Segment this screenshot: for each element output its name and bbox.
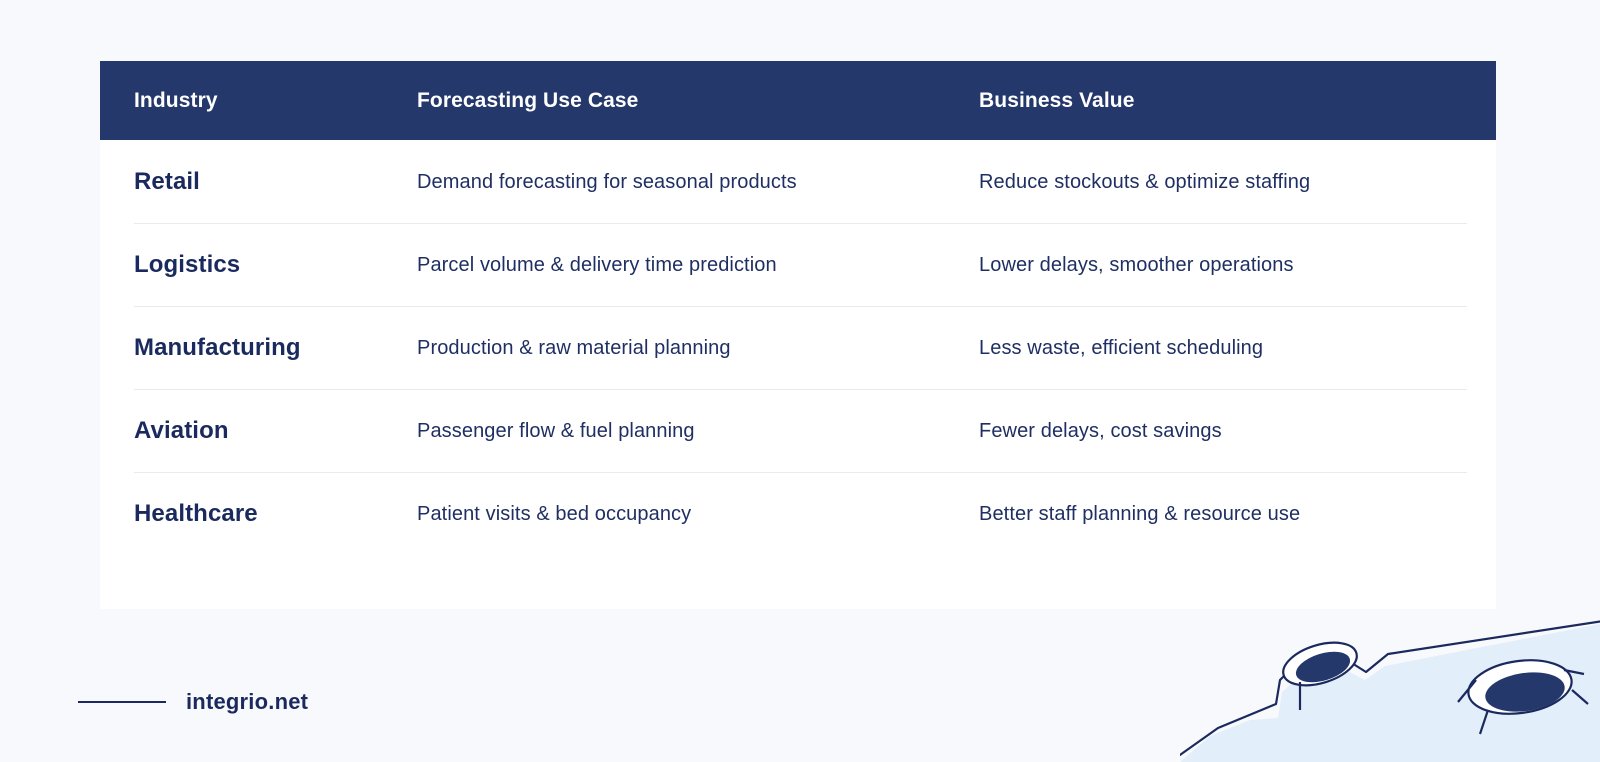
- decor-dish-leg-4: [1480, 710, 1488, 734]
- cell-industry: Healthcare: [100, 502, 417, 526]
- decor-dish-center-right: [1483, 668, 1568, 717]
- cell-industry: Aviation: [100, 419, 417, 443]
- decor-fill-shape: [1180, 624, 1600, 762]
- cell-industry: Logistics: [100, 253, 417, 277]
- cell-use-case: Parcel volume & delivery time prediction: [417, 253, 979, 277]
- cell-use-case: Demand forecasting for seasonal products: [417, 170, 979, 194]
- table-row: Logistics Parcel volume & delivery time …: [100, 223, 1496, 306]
- cell-business-value: Less waste, efficient scheduling: [979, 336, 1496, 360]
- cell-use-case: Production & raw material planning: [417, 336, 979, 360]
- table-header-row: Industry Forecasting Use Case Business V…: [100, 61, 1496, 140]
- decor-dish-ring-right: [1465, 654, 1575, 720]
- table-body: Retail Demand forecasting for seasonal p…: [100, 140, 1496, 609]
- column-header-industry: Industry: [100, 90, 417, 111]
- cell-use-case: Patient visits & bed occupancy: [417, 502, 979, 526]
- cell-use-case: Passenger flow & fuel planning: [417, 419, 979, 443]
- slide-canvas: Industry Forecasting Use Case Business V…: [0, 0, 1600, 762]
- decor-dish-leg-2: [1564, 670, 1584, 674]
- cell-industry: Retail: [100, 170, 417, 194]
- decor-ridge-line: [1180, 620, 1600, 762]
- industry-use-case-table: Industry Forecasting Use Case Business V…: [100, 61, 1496, 609]
- cell-industry: Manufacturing: [100, 336, 417, 360]
- decorative-illustration: [1180, 582, 1600, 762]
- cell-business-value: Fewer delays, cost savings: [979, 419, 1496, 443]
- brand-name-label: integrio.net: [186, 691, 308, 713]
- column-header-business-value: Business Value: [979, 90, 1496, 111]
- table-row: Manufacturing Production & raw material …: [100, 306, 1496, 389]
- decor-dish-leg-1: [1458, 680, 1476, 702]
- decor-dish-ring-left: [1278, 635, 1362, 694]
- brand-footer: integrio.net: [78, 691, 308, 713]
- table-row: Aviation Passenger flow & fuel planning …: [100, 389, 1496, 472]
- cell-business-value: Reduce stockouts & optimize staffing: [979, 170, 1496, 194]
- cell-business-value: Better staff planning & resource use: [979, 502, 1496, 526]
- decor-dish-center-left: [1292, 646, 1353, 688]
- table-row: Retail Demand forecasting for seasonal p…: [100, 140, 1496, 223]
- decor-dish-leg-3: [1572, 690, 1588, 704]
- brand-rule-line: [78, 701, 166, 703]
- cell-business-value: Lower delays, smoother operations: [979, 253, 1496, 277]
- table-row: Healthcare Patient visits & bed occupanc…: [100, 472, 1496, 555]
- column-header-forecasting-use-case: Forecasting Use Case: [417, 90, 979, 111]
